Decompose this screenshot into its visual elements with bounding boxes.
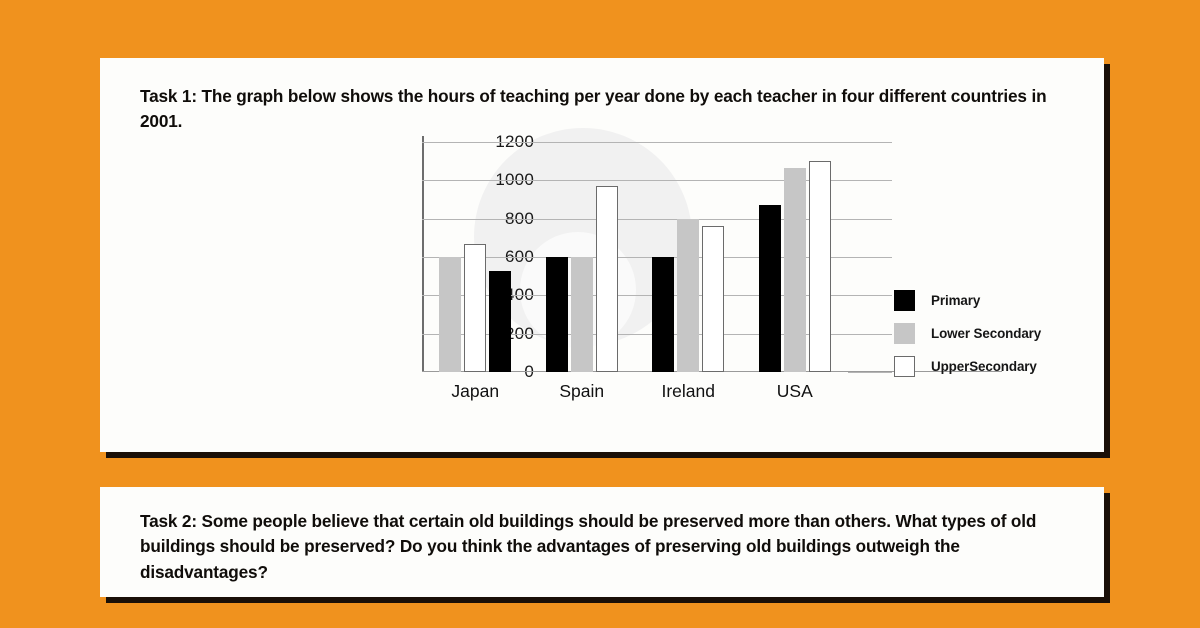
bar-japan-primary (489, 271, 511, 372)
bar-japan-upper (464, 244, 486, 372)
bar-usa-lower (784, 168, 806, 372)
bar-usa-primary (759, 205, 781, 372)
chart-legend: PrimaryLower SecondaryUpperSecondary (894, 284, 1041, 383)
x-tick-label-ireland: Ireland (661, 381, 715, 402)
task2-prompt: Task 2: Some people believe that certain… (140, 509, 1070, 585)
chart-plot-area: JapanSpainIrelandUSA (422, 142, 848, 372)
legend-swatch-icon (894, 356, 915, 377)
gridline-extension (848, 295, 892, 296)
x-tick-label-usa: USA (777, 381, 813, 402)
task1-card: Task 1: The graph below shows the hours … (100, 58, 1104, 452)
task1-body: The graph below shows the hours of teach… (140, 86, 1046, 131)
gridline-extension (848, 219, 892, 220)
bar-ireland-upper (702, 226, 724, 372)
bar-ireland-lower (677, 219, 699, 372)
bar-ireland-primary (652, 257, 674, 372)
chart-bars (422, 142, 848, 372)
task2-card: Task 2: Some people believe that certain… (100, 487, 1104, 597)
bar-usa-upper (809, 161, 831, 372)
gridline-extension (848, 142, 892, 143)
gridline-extension (848, 372, 892, 373)
legend-label: UpperSecondary (931, 359, 1037, 374)
bar-spain-upper (596, 186, 618, 372)
gridline-extension (848, 257, 892, 258)
x-tick-label-spain: Spain (559, 381, 604, 402)
legend-item-primary: Primary (894, 284, 1041, 317)
task1-label: Task 1: (140, 86, 197, 106)
legend-label: Lower Secondary (931, 326, 1041, 341)
task2-label: Task 2: (140, 511, 197, 531)
legend-swatch-icon (894, 323, 915, 344)
legend-item-lower: Lower Secondary (894, 317, 1041, 350)
legend-label: Primary (931, 293, 980, 308)
gridline-extension (848, 334, 892, 335)
page-root: Task 1: The graph below shows the hours … (0, 0, 1200, 628)
gridline-extension (848, 180, 892, 181)
bar-japan-lower (439, 257, 461, 372)
x-tick-label-japan: Japan (451, 381, 499, 402)
bar-spain-lower (571, 257, 593, 372)
task2-body: Some people believe that certain old bui… (140, 511, 1036, 582)
legend-swatch-icon (894, 290, 915, 311)
legend-item-upper: UpperSecondary (894, 350, 1041, 383)
task1-prompt: Task 1: The graph below shows the hours … (140, 84, 1070, 135)
teaching-hours-bar-chart: JapanSpainIrelandUSA 0200400600800100012… (268, 136, 968, 436)
bar-spain-primary (546, 257, 568, 372)
